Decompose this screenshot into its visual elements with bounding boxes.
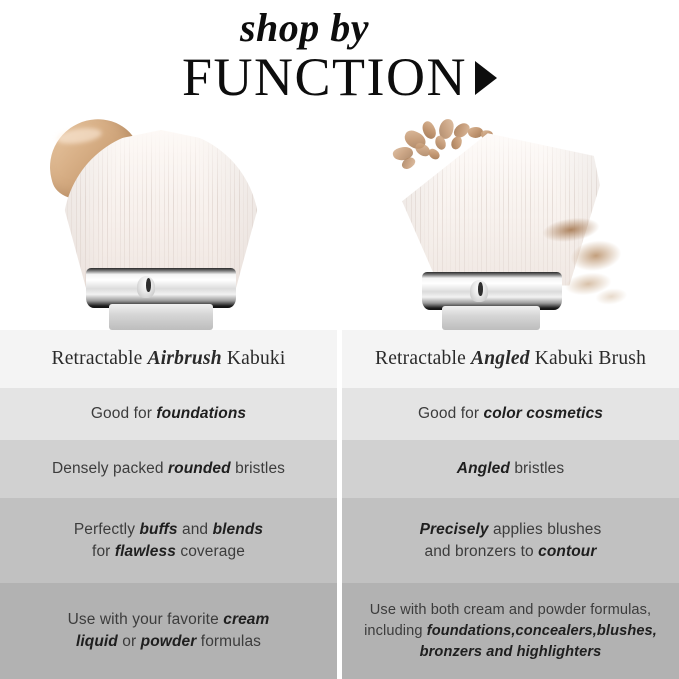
feature-emphasis: flawless [115, 543, 176, 560]
bristle-strands [63, 130, 259, 290]
product-name-emphasis: Angled [471, 348, 530, 369]
table-cell-right: Angled bristles [342, 440, 679, 498]
table-cell-left: Perfectly buffs and blendsfor flawless c… [0, 498, 337, 583]
column-divider [337, 440, 342, 498]
arrow-right-triangle-icon[interactable] [475, 61, 497, 95]
product-name: Retractable Airbrush Kabuki [52, 348, 286, 370]
product-image-band [0, 112, 679, 330]
brush-handle [442, 306, 540, 330]
feature-text: Use with both cream and powder formulas,… [364, 600, 657, 663]
column-divider [337, 498, 342, 583]
feature-text: Use with your favorite creamliquid or po… [68, 609, 270, 653]
feature-line: bronzers and highlighters [364, 642, 657, 663]
feature-line: Good for color cosmetics [418, 403, 603, 425]
feature-text: Densely packed rounded bristles [52, 458, 285, 480]
feature-line: including foundations,concealers,blushes… [364, 621, 657, 642]
feature-emphasis: powder [141, 633, 197, 650]
feature-text: Good for foundations [91, 403, 246, 425]
feature-emphasis: cream [223, 611, 269, 628]
table-cell-left: Use with your favorite creamliquid or po… [0, 583, 337, 679]
brush-ferrule-chrome [86, 268, 236, 308]
table-header-row: Retractable Airbrush KabukiRetractable A… [0, 330, 679, 388]
column-divider [337, 388, 342, 440]
feature-emphasis: bronzers and highlighters [420, 644, 602, 660]
feature-emphasis: rounded [168, 460, 231, 477]
table-cell-left: Retractable Airbrush Kabuki [0, 330, 337, 388]
foundation-smear-swatch [218, 317, 335, 330]
feature-text: Angled bristles [457, 458, 564, 480]
feature-line: Use with your favorite cream [68, 609, 270, 631]
feature-text: Good for color cosmetics [418, 403, 603, 425]
page-title: FUNCTION [182, 48, 467, 106]
table-row: Use with your favorite creamliquid or po… [0, 583, 679, 679]
feature-line: Good for foundations [91, 403, 246, 425]
feature-emphasis: blends [213, 521, 264, 538]
feature-emphasis: Precisely [420, 521, 489, 538]
feature-line: Angled bristles [457, 458, 564, 480]
feature-emphasis: foundations [156, 405, 246, 422]
header-title-line: FUNCTION [0, 48, 679, 106]
feature-line: liquid or powder formulas [68, 631, 270, 653]
product-name-emphasis: Airbrush [148, 348, 222, 369]
feature-emphasis: contour [538, 543, 596, 560]
table-row: Densely packed rounded bristlesAngled br… [0, 440, 679, 498]
table-cell-right: Use with both cream and powder formulas,… [342, 583, 679, 679]
comparison-table: Retractable Airbrush KabukiRetractable A… [0, 330, 679, 679]
feature-line: Densely packed rounded bristles [52, 458, 285, 480]
column-divider [337, 330, 342, 388]
shop-by-function-infographic: shop by FUNCTION [0, 0, 679, 679]
feature-line: Perfectly buffs and blends [74, 519, 263, 541]
angled-kabuki-brush-photo [340, 112, 679, 330]
feature-emphasis: foundations,concealers,blushes, [427, 623, 657, 639]
feature-line: Use with both cream and powder formulas, [364, 600, 657, 621]
header-script-line: shop by [0, 6, 679, 50]
feature-emphasis: Angled [457, 460, 510, 477]
table-row: Good for foundationsGood for color cosme… [0, 388, 679, 440]
table-cell-right: Precisely applies blushesand bronzers to… [342, 498, 679, 583]
feature-text: Perfectly buffs and blendsfor flawless c… [74, 519, 263, 563]
feature-emphasis: liquid [76, 633, 118, 650]
table-row: Perfectly buffs and blendsfor flawless c… [0, 498, 679, 583]
feature-line: Precisely applies blushes [420, 519, 602, 541]
feature-text: Precisely applies blushesand bronzers to… [420, 519, 602, 563]
column-divider [337, 583, 342, 679]
table-cell-right: Good for color cosmetics [342, 388, 679, 440]
airbrush-kabuki-brush-photo [0, 112, 339, 330]
feature-line: for flawless coverage [74, 541, 263, 563]
page-header: shop by FUNCTION [0, 0, 679, 112]
table-cell-left: Good for foundations [0, 388, 337, 440]
table-cell-left: Densely packed rounded bristles [0, 440, 337, 498]
brush-ferrule-chrome [422, 272, 562, 310]
feature-emphasis: color cosmetics [484, 405, 604, 422]
brush-handle [109, 304, 213, 330]
product-name: Retractable Angled Kabuki Brush [375, 348, 646, 370]
brush-bristles-rounded [63, 130, 259, 290]
table-cell-right: Retractable Angled Kabuki Brush [342, 330, 679, 388]
feature-line: and bronzers to contour [420, 541, 602, 563]
feature-emphasis: buffs [139, 521, 177, 538]
